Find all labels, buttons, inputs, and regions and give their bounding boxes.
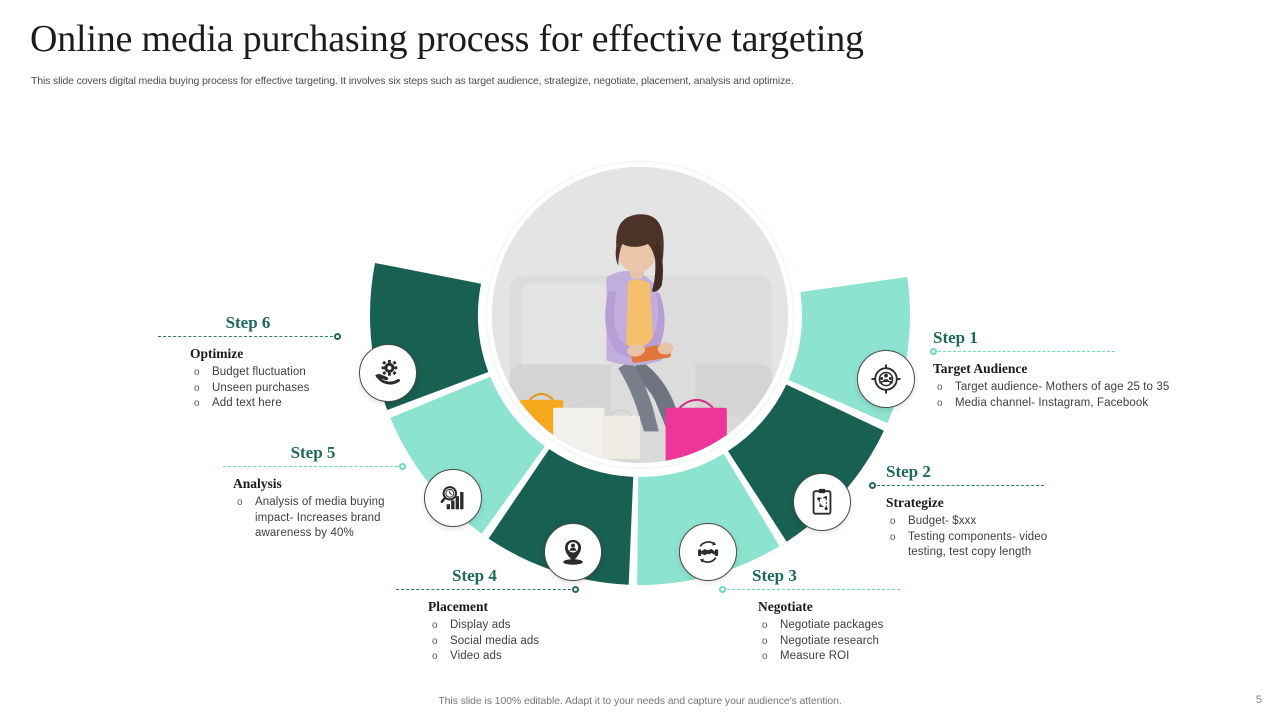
slide: Online media purchasing process for effe… bbox=[0, 0, 1280, 720]
list-item: Budget- $xxx bbox=[886, 514, 1162, 530]
step-5-heading: Analysis bbox=[233, 475, 403, 492]
list-item: Media channel- Instagram, Facebook bbox=[933, 396, 1223, 412]
step-1-rule bbox=[933, 351, 1115, 352]
step-1-block: Step 1 Target Audience Target audience- … bbox=[933, 328, 1223, 411]
step-6-heading: Optimize bbox=[190, 345, 338, 362]
step-5-number: Step 5 bbox=[223, 443, 403, 463]
step-5-bullets: Analysis of media buying impact- Increas… bbox=[233, 495, 403, 542]
page-number: 5 bbox=[1256, 694, 1262, 706]
clipboard-strategy-icon bbox=[807, 487, 837, 517]
step-6-block: Step 6 Optimize Budget fluctuation Unsee… bbox=[158, 313, 338, 412]
step-4-rule bbox=[396, 589, 576, 590]
shopping-scene-illustration bbox=[492, 167, 788, 463]
step-3-block: Step 3 Negotiate Negotiate packages Nego… bbox=[722, 566, 1012, 665]
step-1-icon-bubble[interactable] bbox=[857, 350, 915, 408]
handshake-icon bbox=[693, 537, 723, 567]
list-item: Video ads bbox=[428, 649, 576, 665]
list-item: Display ads bbox=[428, 618, 576, 634]
step-3-bullets: Negotiate packages Negotiate research Me… bbox=[758, 618, 1012, 665]
step-3-number: Step 3 bbox=[752, 566, 1012, 586]
list-item: Measure ROI bbox=[758, 649, 1012, 665]
step-6-bullets: Budget fluctuation Unseen purchases Add … bbox=[190, 365, 338, 412]
step-2-heading: Strategize bbox=[886, 494, 1162, 511]
list-item: testing, test copy length bbox=[886, 545, 1162, 561]
step-3-connector-dot bbox=[719, 586, 726, 593]
step-6-icon-bubble[interactable] bbox=[359, 344, 417, 402]
step-5-icon-bubble[interactable] bbox=[424, 469, 482, 527]
step-2-block: Step 2 Strategize Budget- $xxx Testing c… bbox=[872, 462, 1162, 561]
target-audience-icon bbox=[871, 364, 901, 394]
list-item: Social media ads bbox=[428, 634, 576, 650]
list-item: Analysis of media buying bbox=[233, 495, 403, 511]
step-2-rule bbox=[872, 485, 1044, 486]
process-diagram: Step 1 Target Audience Target audience- … bbox=[0, 0, 1280, 720]
step-4-block: Step 4 Placement Display ads Social medi… bbox=[396, 566, 576, 665]
step-2-connector-dot bbox=[869, 482, 876, 489]
list-item: Negotiate research bbox=[758, 634, 1012, 650]
list-item: Budget fluctuation bbox=[190, 365, 338, 381]
step-1-connector-dot bbox=[930, 348, 937, 355]
step-2-number: Step 2 bbox=[886, 462, 1162, 482]
hand-gear-icon bbox=[373, 358, 403, 388]
magnifier-bar-chart-icon bbox=[438, 483, 468, 513]
step-1-bullets: Target audience- Mothers of age 25 to 35… bbox=[933, 380, 1223, 411]
list-item: Negotiate packages bbox=[758, 618, 1012, 634]
step-1-heading: Target Audience bbox=[933, 360, 1223, 377]
step-2-icon-bubble[interactable] bbox=[793, 473, 851, 531]
step-3-rule bbox=[722, 589, 900, 590]
list-item: Unseen purchases bbox=[190, 381, 338, 397]
step-6-number: Step 6 bbox=[158, 313, 338, 333]
step-5-block: Step 5 Analysis Analysis of media buying… bbox=[223, 443, 403, 542]
list-item: awareness by 40% bbox=[233, 526, 403, 542]
step-3-heading: Negotiate bbox=[758, 598, 1012, 615]
footer-note: This slide is 100% editable. Adapt it to… bbox=[0, 695, 1280, 707]
step-6-rule bbox=[158, 336, 338, 337]
list-item: Target audience- Mothers of age 25 to 35 bbox=[933, 380, 1223, 396]
location-pin-person-icon bbox=[558, 537, 588, 567]
list-item: Add text here bbox=[190, 396, 338, 412]
center-photo bbox=[487, 162, 793, 468]
list-item: Testing components- video bbox=[886, 530, 1162, 546]
step-4-number: Step 4 bbox=[452, 566, 576, 586]
list-item: impact- Increases brand bbox=[233, 511, 403, 527]
step-1-number: Step 1 bbox=[933, 328, 1223, 348]
step-4-heading: Placement bbox=[428, 598, 576, 615]
step-4-bullets: Display ads Social media ads Video ads bbox=[428, 618, 576, 665]
step-5-rule bbox=[223, 466, 403, 467]
step-2-bullets: Budget- $xxx Testing components- video t… bbox=[886, 514, 1162, 561]
